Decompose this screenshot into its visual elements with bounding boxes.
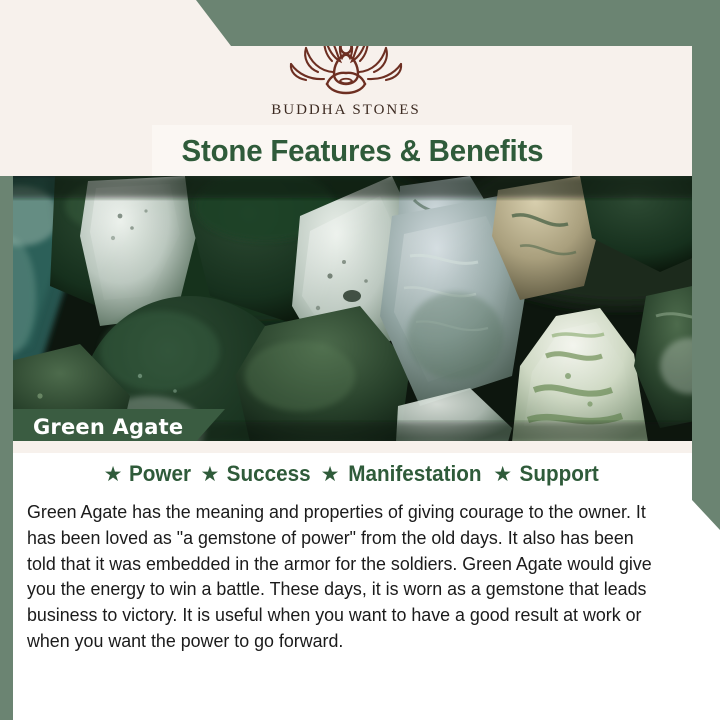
frame-right-band [692, 0, 720, 530]
page-title: Stone Features & Benefits [181, 133, 543, 169]
brand-name: BUDDHA STONES [271, 102, 421, 119]
stone-name-label: Green Agate [33, 415, 183, 439]
benefit-label: Manifestation [349, 461, 482, 487]
stone-name-banner: Green Agate [13, 409, 225, 445]
content-top-tint [13, 441, 692, 453]
benefits-row: ★ Power ★ Success ★ Manifestation ★ Supp… [13, 461, 692, 487]
stone-photo [0, 176, 720, 442]
star-icon: ★ [493, 464, 512, 485]
star-icon: ★ [104, 464, 123, 485]
star-icon: ★ [200, 464, 219, 485]
benefit-label: Success [227, 461, 311, 487]
stone-description: Green Agate has the meaning and properti… [27, 499, 658, 654]
benefit-label: Support [520, 461, 599, 487]
benefit-item: ★ Support [493, 461, 601, 487]
infographic-card: BUDDHA STONES Stone Features & Benefits [0, 0, 720, 720]
title-panel: Stone Features & Benefits [152, 125, 572, 176]
stone-photo-artwork [0, 176, 720, 442]
content-panel: ★ Power ★ Success ★ Manifestation ★ Supp… [13, 441, 692, 720]
benefit-item: ★ Success [200, 461, 313, 487]
benefit-item: ★ Manifestation [321, 461, 487, 487]
benefit-item: ★ Power [104, 461, 194, 487]
benefit-label: Power [129, 461, 191, 487]
star-icon: ★ [321, 464, 340, 485]
frame-left-band [0, 176, 13, 720]
